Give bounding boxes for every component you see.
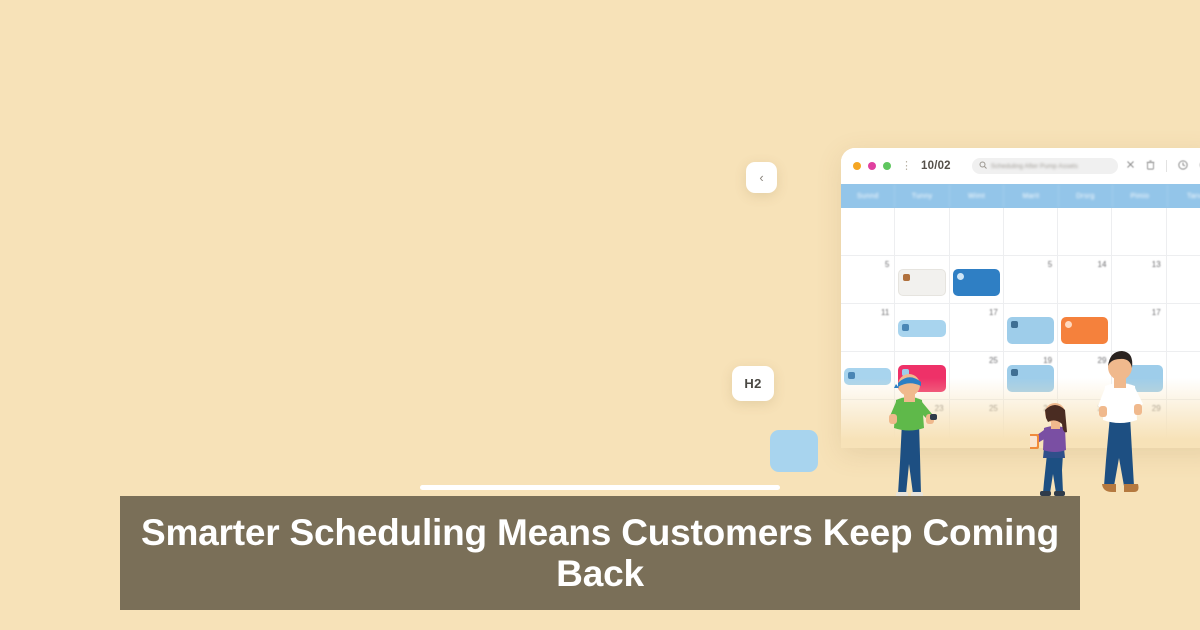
day-header-6: Tarv	[1168, 184, 1200, 208]
calendar-cell[interactable]	[1167, 208, 1200, 256]
calendar-event-chip[interactable]	[953, 269, 1000, 296]
calendar-event-chip[interactable]	[1007, 365, 1054, 392]
close-icon[interactable]	[1126, 160, 1135, 172]
blue-accent-square[interactable]	[770, 430, 818, 472]
calendar-cell[interactable]	[841, 208, 895, 256]
date-number: 5	[1048, 260, 1052, 269]
search-input-value: Scheduling After Pump Assets	[991, 163, 1078, 170]
search-icon	[979, 161, 987, 171]
person-white-shirt	[1090, 348, 1150, 498]
calendar-event-chip[interactable]	[898, 269, 945, 296]
calendar-cell[interactable]: 17	[1112, 304, 1166, 352]
calendar-cell[interactable]	[1167, 256, 1200, 304]
date-number: 13	[1152, 260, 1161, 269]
date-number: 17	[1152, 308, 1161, 317]
calendar-cell[interactable]: 13	[1112, 256, 1166, 304]
toolbar-icon-group	[1126, 160, 1200, 173]
previous-nav-button[interactable]: ‹	[746, 162, 777, 193]
kebab-menu-icon[interactable]: ⋮	[901, 161, 912, 172]
calendar-cell[interactable]	[1167, 352, 1200, 400]
person-green-shirt	[878, 370, 940, 500]
date-number: 25	[989, 404, 998, 413]
calendar-cell[interactable]: 17	[950, 304, 1004, 352]
event-icon	[1065, 321, 1072, 328]
calendar-cell[interactable]: 5	[1004, 256, 1058, 304]
calendar-event-chip[interactable]	[898, 320, 945, 337]
window-dot-magenta[interactable]	[868, 162, 876, 170]
calendar-cell[interactable]: 5	[841, 256, 895, 304]
window-dot-green[interactable]	[883, 162, 891, 170]
divider-line	[420, 485, 780, 490]
window-dot-orange[interactable]	[853, 162, 861, 170]
event-icon	[903, 274, 910, 281]
heading-level-badge[interactable]: H2	[732, 366, 774, 401]
search-input[interactable]: Scheduling After Pump Assets	[972, 158, 1118, 174]
date-number: 19	[1043, 356, 1052, 365]
calendar-cell[interactable]	[950, 208, 1004, 256]
day-header-1: Tunny	[895, 184, 949, 208]
date-number: 5	[885, 260, 889, 269]
event-icon	[957, 273, 964, 280]
calendar-cell[interactable]: 14	[1058, 256, 1112, 304]
day-header-5: Pimio	[1113, 184, 1167, 208]
page-title: Smarter Scheduling Means Customers Keep …	[138, 512, 1062, 595]
date-number: 11	[881, 308, 889, 317]
calendar-cell[interactable]	[895, 256, 949, 304]
trash-icon[interactable]	[1146, 160, 1155, 173]
calendar-cell[interactable]	[895, 208, 949, 256]
day-header-0: Sunnd	[841, 184, 895, 208]
heading-level-label: H2	[744, 376, 761, 391]
calendar-cell[interactable]	[1058, 208, 1112, 256]
toolbar-divider	[1166, 160, 1167, 172]
event-icon	[1011, 321, 1018, 328]
calendar-cell[interactable]: 19	[1004, 352, 1058, 400]
calendar-cell[interactable]	[895, 304, 949, 352]
calendar-cell[interactable]	[1004, 304, 1058, 352]
chevron-left-icon: ‹	[759, 171, 763, 184]
calendar-cell[interactable]	[1004, 208, 1058, 256]
caption-band: Smarter Scheduling Means Customers Keep …	[120, 496, 1080, 610]
date-number: 17	[989, 308, 998, 317]
event-icon	[902, 324, 909, 331]
calendar-cell[interactable]	[1058, 304, 1112, 352]
calendar-toolbar: ⋮ 10/02 Scheduling After Pump Assets	[841, 148, 1200, 184]
calendar-cell[interactable]	[1112, 208, 1166, 256]
calendar-cell[interactable]	[950, 256, 1004, 304]
person-purple-top	[1030, 398, 1080, 498]
calendar-event-chip[interactable]	[1061, 317, 1108, 344]
calendar-cell[interactable]	[1167, 304, 1200, 352]
hero-graphic: ⋮ 10/02 Scheduling After Pump Assets	[0, 0, 1200, 630]
calendar-day-header-row: SunndTunnyWimtMaritDrsrgPimioTarv	[841, 184, 1200, 208]
calendar-cell[interactable]: 11	[841, 304, 895, 352]
clock-icon[interactable]	[1178, 160, 1188, 173]
date-number: 25	[989, 356, 998, 365]
date-number: 29	[1152, 404, 1161, 413]
date-number: 14	[1098, 260, 1107, 269]
event-icon	[1011, 369, 1018, 376]
calendar-cell[interactable]: 25	[950, 352, 1004, 400]
calendar-cell[interactable]: 25	[950, 400, 1004, 448]
calendar-date-label: 10/02	[921, 160, 951, 172]
day-header-3: Marit	[1004, 184, 1058, 208]
day-header-2: Wimt	[950, 184, 1004, 208]
calendar-cell[interactable]	[1167, 400, 1200, 448]
calendar-event-chip[interactable]	[1007, 317, 1054, 344]
event-icon	[848, 372, 855, 379]
day-header-4: Drsrg	[1059, 184, 1113, 208]
